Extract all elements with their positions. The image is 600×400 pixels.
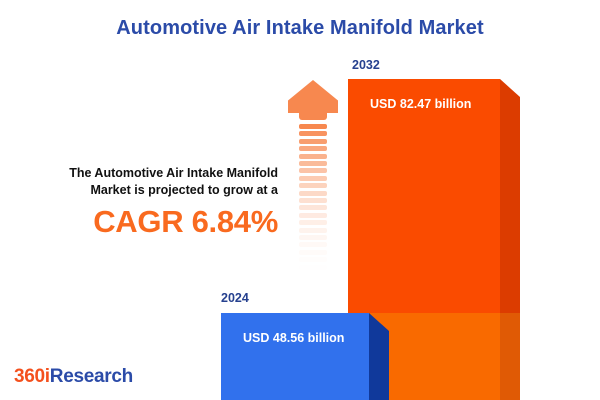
bar-2024-front-face	[221, 313, 369, 400]
arrow-segment	[299, 205, 327, 210]
cagr-annotation: The Automotive Air Intake Manifold Marke…	[10, 165, 278, 240]
arrow-segment	[299, 250, 327, 255]
cagr-lead-line2: Market is projected to grow at a	[90, 183, 278, 197]
arrow-segment	[299, 168, 327, 173]
arrow-segment	[299, 235, 327, 240]
arrow-segment	[299, 220, 327, 225]
arrow-segment	[299, 198, 327, 203]
cagr-value-text: CAGR 6.84%	[10, 204, 278, 240]
up-arrow-neck	[299, 109, 327, 120]
logo-research-text: Research	[50, 366, 133, 387]
page-title: Automotive Air Intake Manifold Market	[0, 17, 600, 40]
arrow-segment	[299, 191, 327, 196]
arrow-segment	[299, 124, 327, 129]
bar-2032-value-label: USD 82.47 billion	[370, 97, 471, 111]
market-size-infographic: Automotive Air Intake Manifold Market 20…	[0, 0, 600, 400]
arrow-segment	[299, 257, 327, 262]
cagr-lead-text: The Automotive Air Intake Manifold Marke…	[10, 165, 278, 199]
brand-logo: 360iResearch	[14, 366, 133, 388]
bar-2024-side-face	[369, 313, 389, 400]
arrow-segment	[299, 228, 327, 233]
cagr-lead-line1: The Automotive Air Intake Manifold	[69, 166, 278, 180]
arrow-segment	[299, 139, 327, 144]
arrow-segment	[299, 131, 327, 136]
bar-2032-overlap-side	[500, 313, 520, 400]
arrow-segment	[299, 154, 327, 159]
bar-2024-value-label: USD 48.56 billion	[243, 331, 344, 345]
arrow-segment	[299, 213, 327, 218]
bar-label-2024: 2024	[221, 291, 249, 305]
arrow-segment	[299, 161, 327, 166]
arrow-segment	[299, 176, 327, 181]
arrow-segment	[299, 146, 327, 151]
arrow-segment	[299, 183, 327, 188]
bar-label-2032: 2032	[352, 58, 380, 72]
arrow-segment	[299, 265, 327, 270]
arrow-segment	[299, 242, 327, 247]
up-arrow-icon	[288, 80, 338, 290]
bar-2024: USD 48.56 billion	[221, 313, 389, 400]
logo-360i-text: 360i	[14, 366, 50, 387]
arrow-segment	[299, 272, 327, 277]
